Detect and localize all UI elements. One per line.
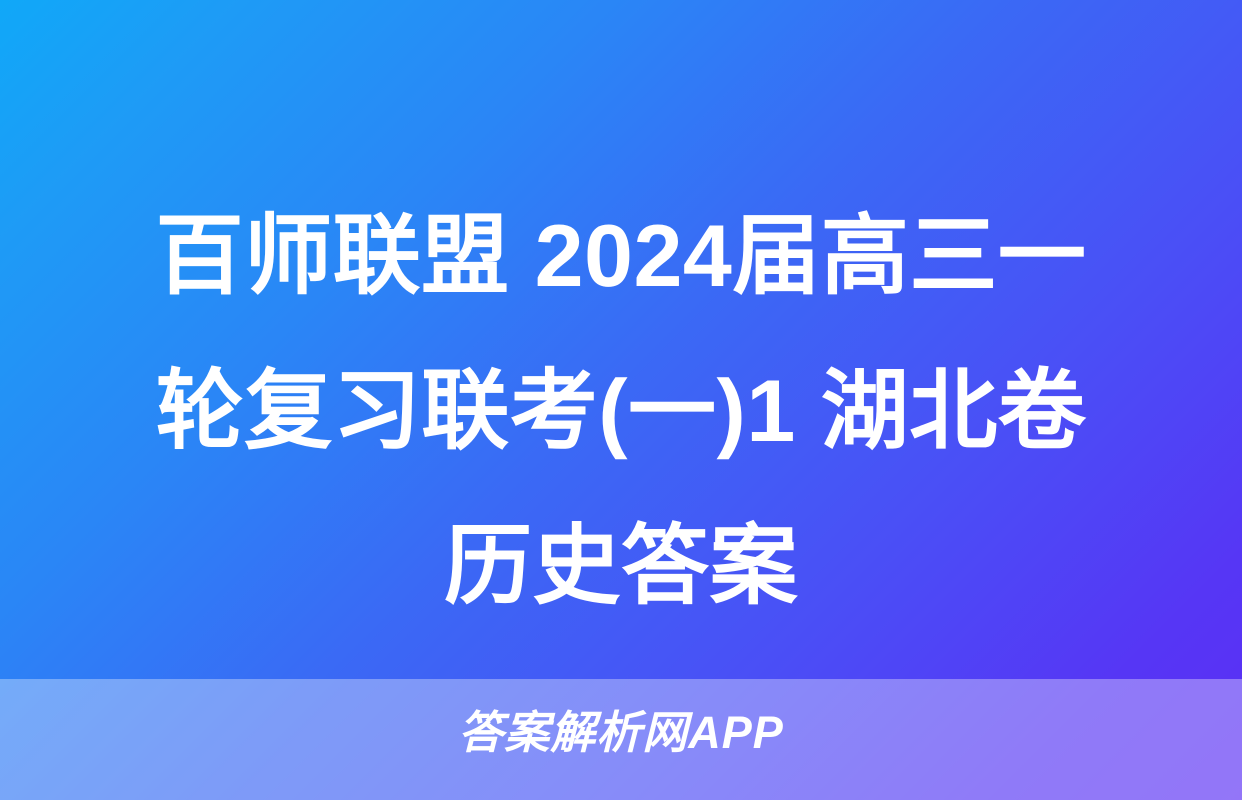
poster-canvas: 百师联盟 2024届高三一 轮复习联考(一)1 湖北卷 历史答案 答案解析网AP…	[0, 0, 1242, 800]
headline-block: 百师联盟 2024届高三一 轮复习联考(一)1 湖北卷 历史答案	[0, 178, 1242, 643]
page-title: 百师联盟 2024届高三一 轮复习联考(一)1 湖北卷 历史答案	[46, 178, 1196, 643]
watermark-text: 答案解析网APP	[458, 706, 784, 760]
watermark-block: 答案解析网APP	[0, 706, 1242, 760]
